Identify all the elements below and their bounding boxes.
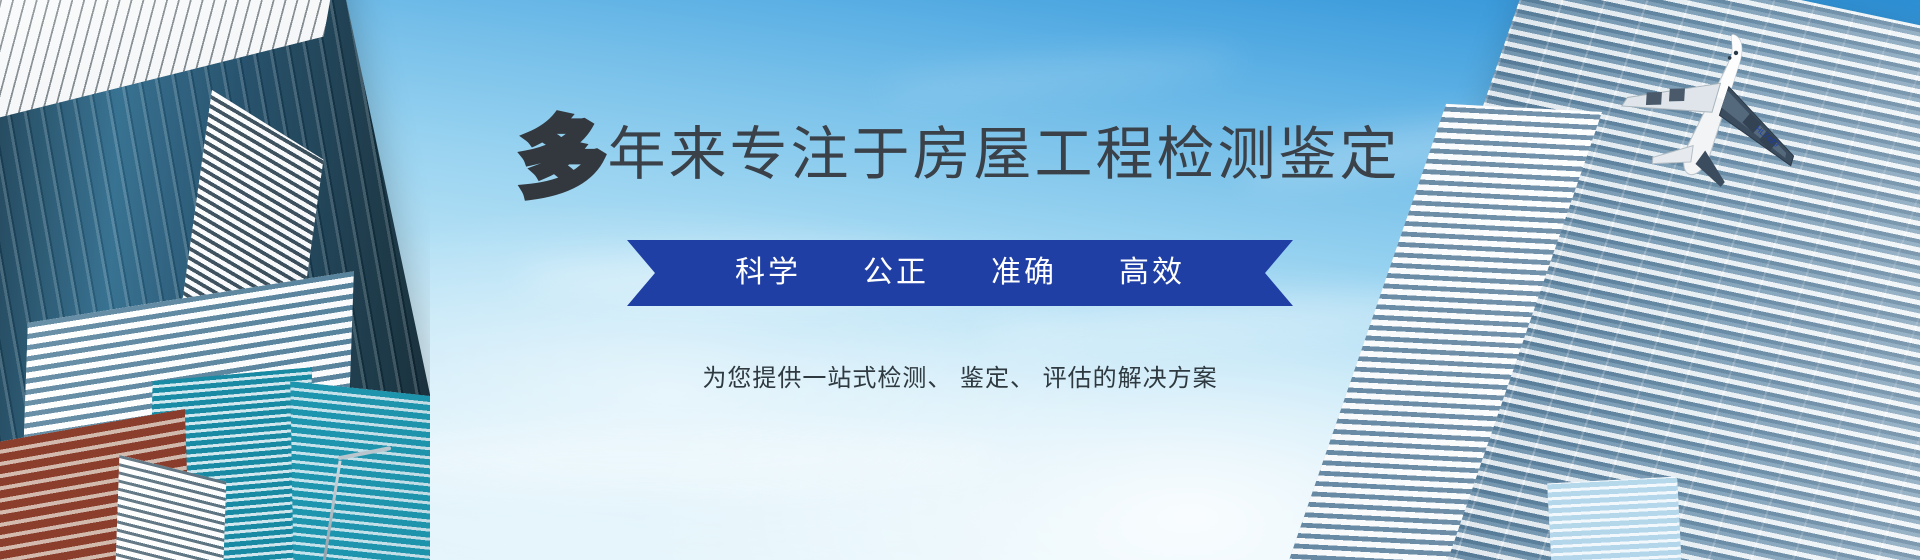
ribbon-item-1: 公正 xyxy=(863,258,929,288)
hero-subtitle: 为您提供一站式检测、 鉴定、 评估的解决方案 xyxy=(702,358,1217,393)
ribbon-item-3: 高效 xyxy=(1119,258,1185,288)
left-buildings-image xyxy=(0,0,430,560)
value-ribbon: 科学 公正 准确 高效 xyxy=(627,240,1293,306)
headline-text: 年来专注于房屋工程检测鉴定 xyxy=(607,126,1400,184)
ribbon-item-2: 准确 xyxy=(991,258,1057,288)
ribbon-item-0: 科学 xyxy=(735,258,801,288)
hero-banner: HL7499 多 年来专注于房屋工程检测鉴定 科学 公正 准确 高效 为您提供一… xyxy=(0,0,1920,560)
building-right-small xyxy=(1547,477,1683,560)
page-title: 多 年来专注于房屋工程检测鉴定 xyxy=(519,112,1400,198)
building-teal-tower-2 xyxy=(290,381,430,560)
headline-mark-character: 多 xyxy=(519,116,605,202)
value-ribbon-body: 科学 公正 准确 高效 xyxy=(627,240,1293,306)
